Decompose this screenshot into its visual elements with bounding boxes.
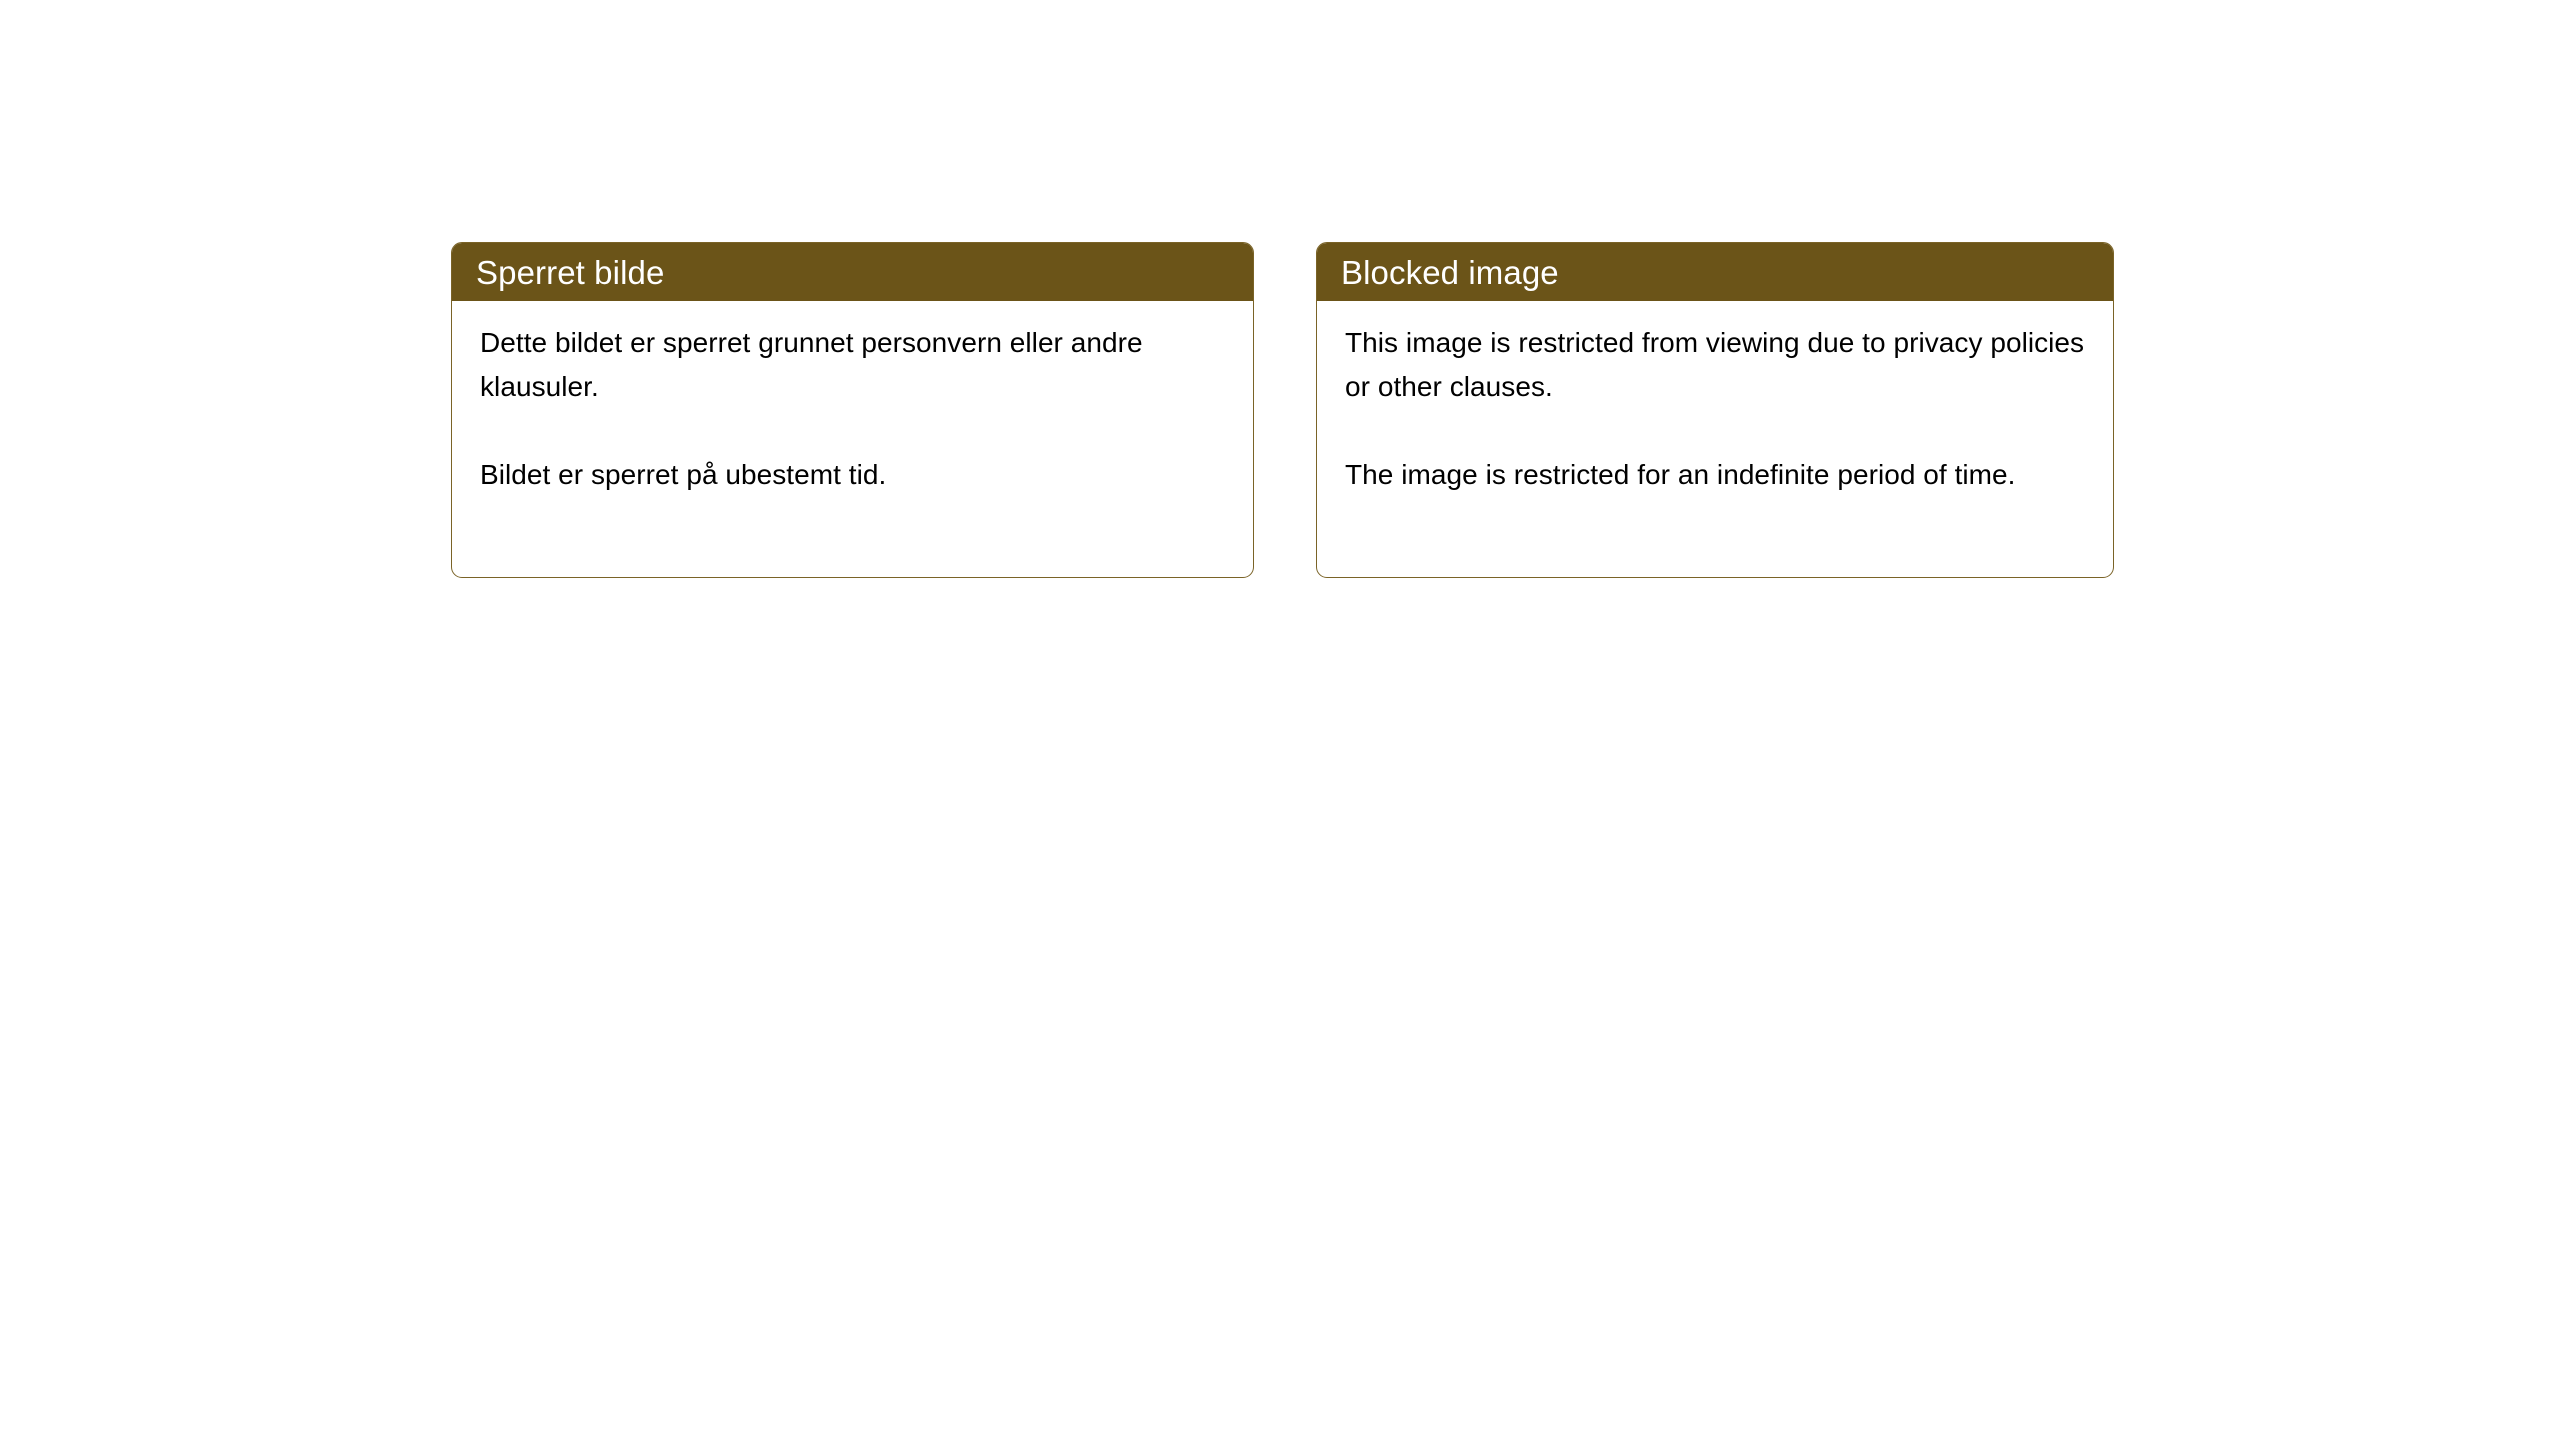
card-header-norwegian: Sperret bilde bbox=[452, 243, 1253, 301]
card-paragraph-primary-norwegian: Dette bildet er sperret grunnet personve… bbox=[480, 321, 1225, 409]
blocked-image-notice-card-norwegian: Sperret bilde Dette bildet er sperret gr… bbox=[451, 242, 1254, 578]
page-canvas: Sperret bilde Dette bildet er sperret gr… bbox=[0, 0, 2560, 1440]
card-title-english: Blocked image bbox=[1341, 256, 1559, 289]
card-body-norwegian: Dette bildet er sperret grunnet personve… bbox=[452, 301, 1253, 497]
card-paragraph-secondary-norwegian: Bildet er sperret på ubestemt tid. bbox=[480, 453, 1225, 497]
card-body-english: This image is restricted from viewing du… bbox=[1317, 301, 2113, 497]
card-paragraph-secondary-english: The image is restricted for an indefinit… bbox=[1345, 453, 2085, 497]
blocked-image-notice-card-english: Blocked image This image is restricted f… bbox=[1316, 242, 2114, 578]
card-title-norwegian: Sperret bilde bbox=[476, 256, 664, 289]
card-header-english: Blocked image bbox=[1317, 243, 2113, 301]
card-paragraph-primary-english: This image is restricted from viewing du… bbox=[1345, 321, 2085, 409]
